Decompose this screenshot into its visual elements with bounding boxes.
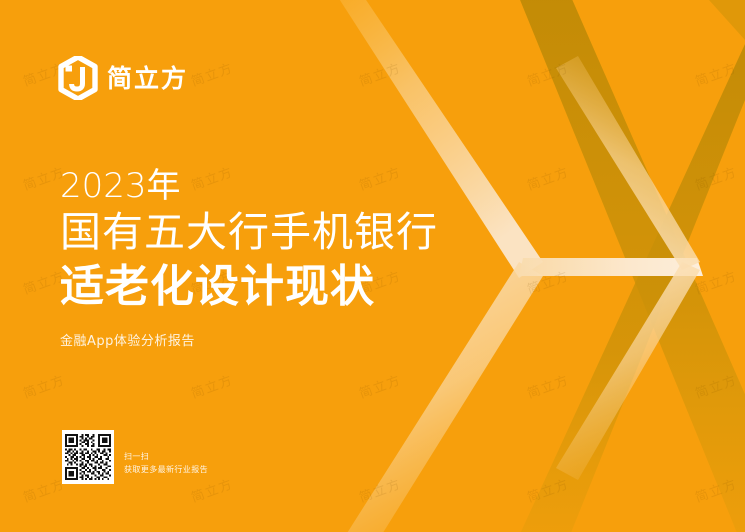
watermark-text: 简立方 <box>188 57 235 90</box>
qr-caption: 扫一扫 获取更多最新行业报告 <box>124 440 208 475</box>
watermark-text: 简立方 <box>356 369 403 402</box>
cover-subtitle: 金融App体验分析报告 <box>60 330 490 349</box>
title-emphasis: 适老化设计现状 <box>60 261 490 314</box>
watermark-text: 简立方 <box>692 57 739 90</box>
watermark-text: 简立方 <box>524 57 571 90</box>
qr-caption-line-2: 获取更多最新行业报告 <box>124 465 208 475</box>
report-cover-page: 简立方简立方简立方简立方简立方简立方简立方简立方简立方简立方简立方简立方简立方简… <box>0 0 745 532</box>
watermark-text: 简立方 <box>524 369 571 402</box>
qr-block: 扫一扫 获取更多最新行业报告 <box>62 430 208 484</box>
watermark-text: 简立方 <box>524 161 571 194</box>
qr-caption-line-1: 扫一扫 <box>124 452 208 462</box>
watermark-text: 简立方 <box>692 369 739 402</box>
watermark-text: 简立方 <box>524 265 571 298</box>
watermark-text: 简立方 <box>692 161 739 194</box>
qr-code-icon[interactable] <box>62 430 114 484</box>
watermark-text: 简立方 <box>692 473 739 506</box>
watermark-text: 简立方 <box>692 265 739 298</box>
title-main-line: 国有五大行手机银行 <box>60 207 490 257</box>
title-year: 2023年 <box>60 168 490 205</box>
brand-name: 简立方 <box>107 66 188 91</box>
watermark-text: 简立方 <box>188 369 235 402</box>
brand-logo: 简立方 <box>58 56 188 100</box>
watermark-text: 简立方 <box>524 473 571 506</box>
watermark-text: 简立方 <box>356 57 403 90</box>
watermark-text: 简立方 <box>20 473 67 506</box>
cube-j-logo-icon <box>58 56 98 100</box>
watermark-text: 简立方 <box>356 473 403 506</box>
cover-title-block: 2023年 国有五大行手机银行 适老化设计现状 金融App体验分析报告 <box>60 168 490 349</box>
watermark-text: 简立方 <box>20 369 67 402</box>
